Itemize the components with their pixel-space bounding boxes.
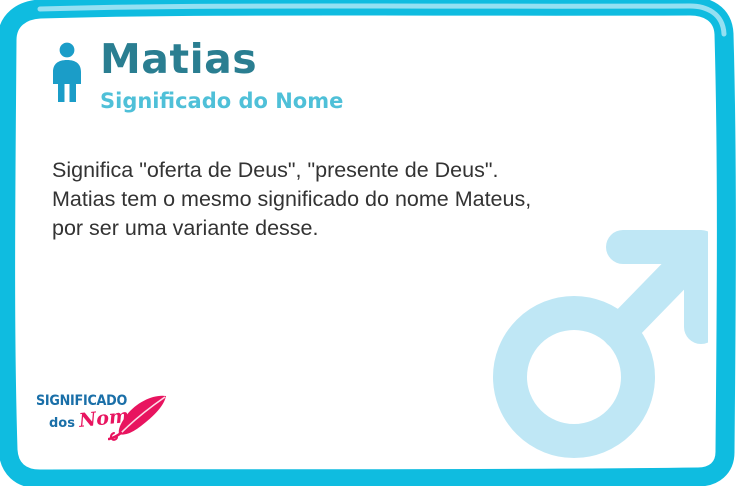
name-meaning-card: Matias Significado do Nome Significa "of… [0, 0, 736, 486]
page-title: Matias [100, 38, 343, 81]
card-content-area: Matias Significado do Nome Significa "of… [28, 18, 708, 464]
header-text-block: Matias Significado do Nome [100, 38, 343, 113]
feather-quill-icon [108, 392, 170, 444]
card-header: Matias Significado do Nome [50, 38, 343, 113]
brand-line-dos: dos [49, 417, 75, 430]
page-subtitle: Significado do Nome [100, 90, 343, 113]
mars-male-gender-symbol-icon [480, 221, 708, 461]
name-meaning-text: Significa "oferta de Deus", "presente de… [52, 156, 672, 243]
brand-logo[interactable]: SIGNIFICADO dos Nomes [36, 394, 188, 452]
male-person-icon [50, 42, 84, 104]
